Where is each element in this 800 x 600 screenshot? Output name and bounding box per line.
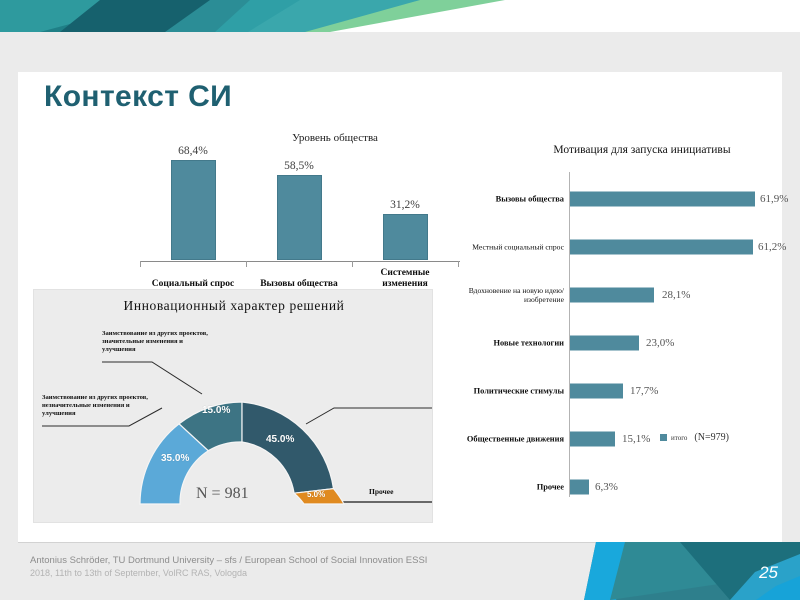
- bar-row: Новые технологии 23,0%: [432, 328, 792, 358]
- axis-tick: [140, 261, 141, 267]
- bar-group: 68,4%: [154, 145, 232, 260]
- footer-line-1: Antonius Schröder, TU Dortmund Universit…: [30, 554, 427, 567]
- category-label: Общественные движения: [439, 435, 564, 444]
- bar-row: Вдохновение на новую идею/ изобретение 2…: [432, 280, 792, 310]
- bar-value-label: 6,3%: [595, 481, 618, 493]
- page-number: 25: [759, 563, 778, 583]
- slice-value-35: 35.0%: [161, 453, 189, 464]
- bar-row: Вызовы общества 61,9%: [432, 184, 792, 214]
- slide: Контекст СИ Уровень общества 68,4% 58,5%…: [0, 0, 800, 600]
- category-label: Политические стимулы: [439, 387, 564, 396]
- header-decoration: [0, 0, 800, 32]
- bar: [570, 192, 755, 207]
- chart-society-level: Уровень общества 68,4% 58,5% 31,2% Социа…: [120, 132, 460, 292]
- bar: [570, 480, 589, 495]
- chart-society-level-axis: [140, 261, 460, 262]
- chart-motivation: Мотивация для запуска инициативы Вызовы …: [432, 140, 792, 525]
- bar: [570, 336, 639, 351]
- footer-text: Antonius Schröder, TU Dortmund Universit…: [30, 554, 427, 580]
- category-label: Вдохновение на новую идею/ изобретение: [439, 286, 564, 304]
- footer-line-2: 2018, 11th to 13th of September, VolRC R…: [30, 567, 427, 580]
- footer-decoration: 25: [580, 542, 800, 600]
- sample-size-note: N = 981: [196, 485, 249, 503]
- bar-value-label: 68,4%: [154, 145, 232, 157]
- bar: [570, 240, 753, 255]
- legend-sample-size: (N=979): [694, 432, 729, 443]
- bar-row: Прочее 6,3%: [432, 472, 792, 502]
- bar-value-label: 61,9%: [760, 193, 788, 205]
- chart-motivation-title: Мотивация для запуска инициативы: [492, 144, 792, 156]
- slice-value-5: 5.0%: [307, 490, 325, 499]
- slice-value-15: 15.0%: [202, 405, 230, 416]
- category-label: Местный социальный спрос: [439, 243, 564, 252]
- category-label: Вызовы общества: [439, 195, 564, 204]
- category-label: Прочее: [439, 483, 564, 492]
- bar: [383, 214, 428, 260]
- bar-value-label: 23,0%: [646, 337, 674, 349]
- footer: Antonius Schröder, TU Dortmund Universit…: [0, 542, 800, 600]
- bar-value-label: 28,1%: [662, 289, 690, 301]
- slice-value-45: 45.0%: [266, 434, 294, 445]
- bar-row: Общественные движения 15,1%: [432, 424, 792, 454]
- bar-value-label: 61,2%: [758, 241, 786, 253]
- bar-value-label: 58,5%: [260, 160, 338, 172]
- bar-row: Местный социальный спрос 61,2%: [432, 232, 792, 262]
- bar-row: Политические стимулы 17,7%: [432, 376, 792, 406]
- bar-value-label: 15,1%: [622, 433, 650, 445]
- bar: [570, 288, 654, 303]
- chart-motivation-legend: итого (N=979): [660, 432, 729, 443]
- bar: [570, 384, 623, 399]
- page-title: Контекст СИ: [44, 80, 232, 114]
- bar: [570, 432, 615, 447]
- bar: [277, 175, 322, 260]
- header-polygons-icon: [0, 0, 800, 32]
- bar: [171, 160, 216, 260]
- chart-society-level-title: Уровень общества: [255, 132, 415, 144]
- legend-label: итого: [671, 434, 687, 442]
- bar-group: 58,5%: [260, 160, 338, 260]
- chart-innovation-character: Инновационный характер решений Заимствов…: [33, 289, 433, 523]
- axis-tick: [352, 261, 353, 267]
- axis-tick: [246, 261, 247, 267]
- category-label: Новые технологии: [439, 339, 564, 348]
- legend-swatch-icon: [660, 434, 667, 441]
- bar-value-label: 17,7%: [630, 385, 658, 397]
